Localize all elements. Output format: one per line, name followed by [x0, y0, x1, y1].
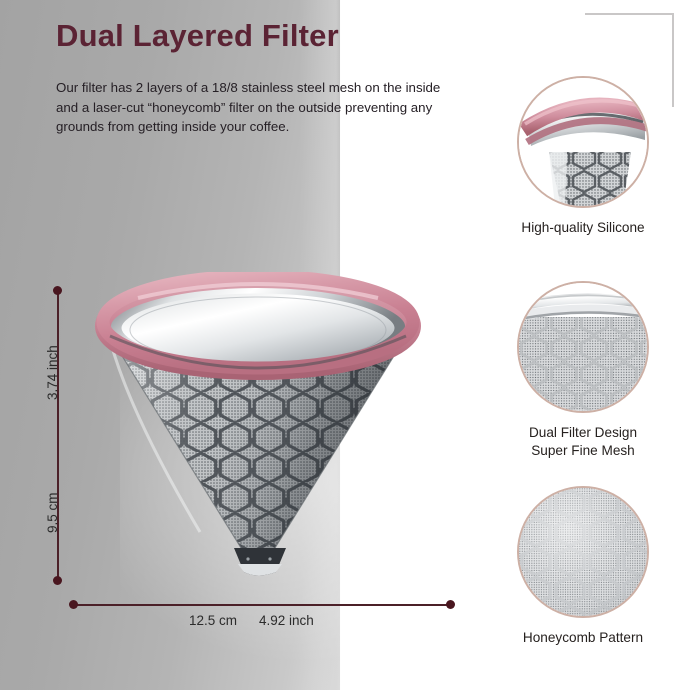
callout-honeycomb-pattern: Honeycomb Pattern [493, 486, 673, 647]
callout-label: High-quality Silicone [493, 219, 673, 237]
silicone-rim-closeup-icon [517, 76, 649, 208]
width-label-inch: 4.92 inch [259, 613, 314, 628]
callout-high-quality-silicone: High-quality Silicone [493, 76, 673, 237]
honeycomb-pattern-closeup-icon [517, 486, 649, 618]
product-image-cone-filter [48, 272, 468, 602]
width-dimension-line [73, 604, 451, 606]
callout-dual-filter-design: Dual Filter Design Super Fine Mesh [493, 281, 673, 460]
width-label-cm: 12.5 cm [189, 613, 237, 628]
fine-mesh-closeup-icon [517, 281, 649, 413]
callout-label-line-1: Dual Filter Design [493, 424, 673, 442]
callout-label: Honeycomb Pattern [493, 629, 673, 647]
product-infographic: Dual Layered Filter Our filter has 2 lay… [0, 0, 679, 690]
callout-label-line-2: Super Fine Mesh [493, 442, 673, 460]
page-title: Dual Layered Filter [56, 18, 339, 54]
page-description: Our filter has 2 layers of a 18/8 stainl… [56, 78, 452, 137]
callout-label: Dual Filter Design Super Fine Mesh [493, 424, 673, 460]
